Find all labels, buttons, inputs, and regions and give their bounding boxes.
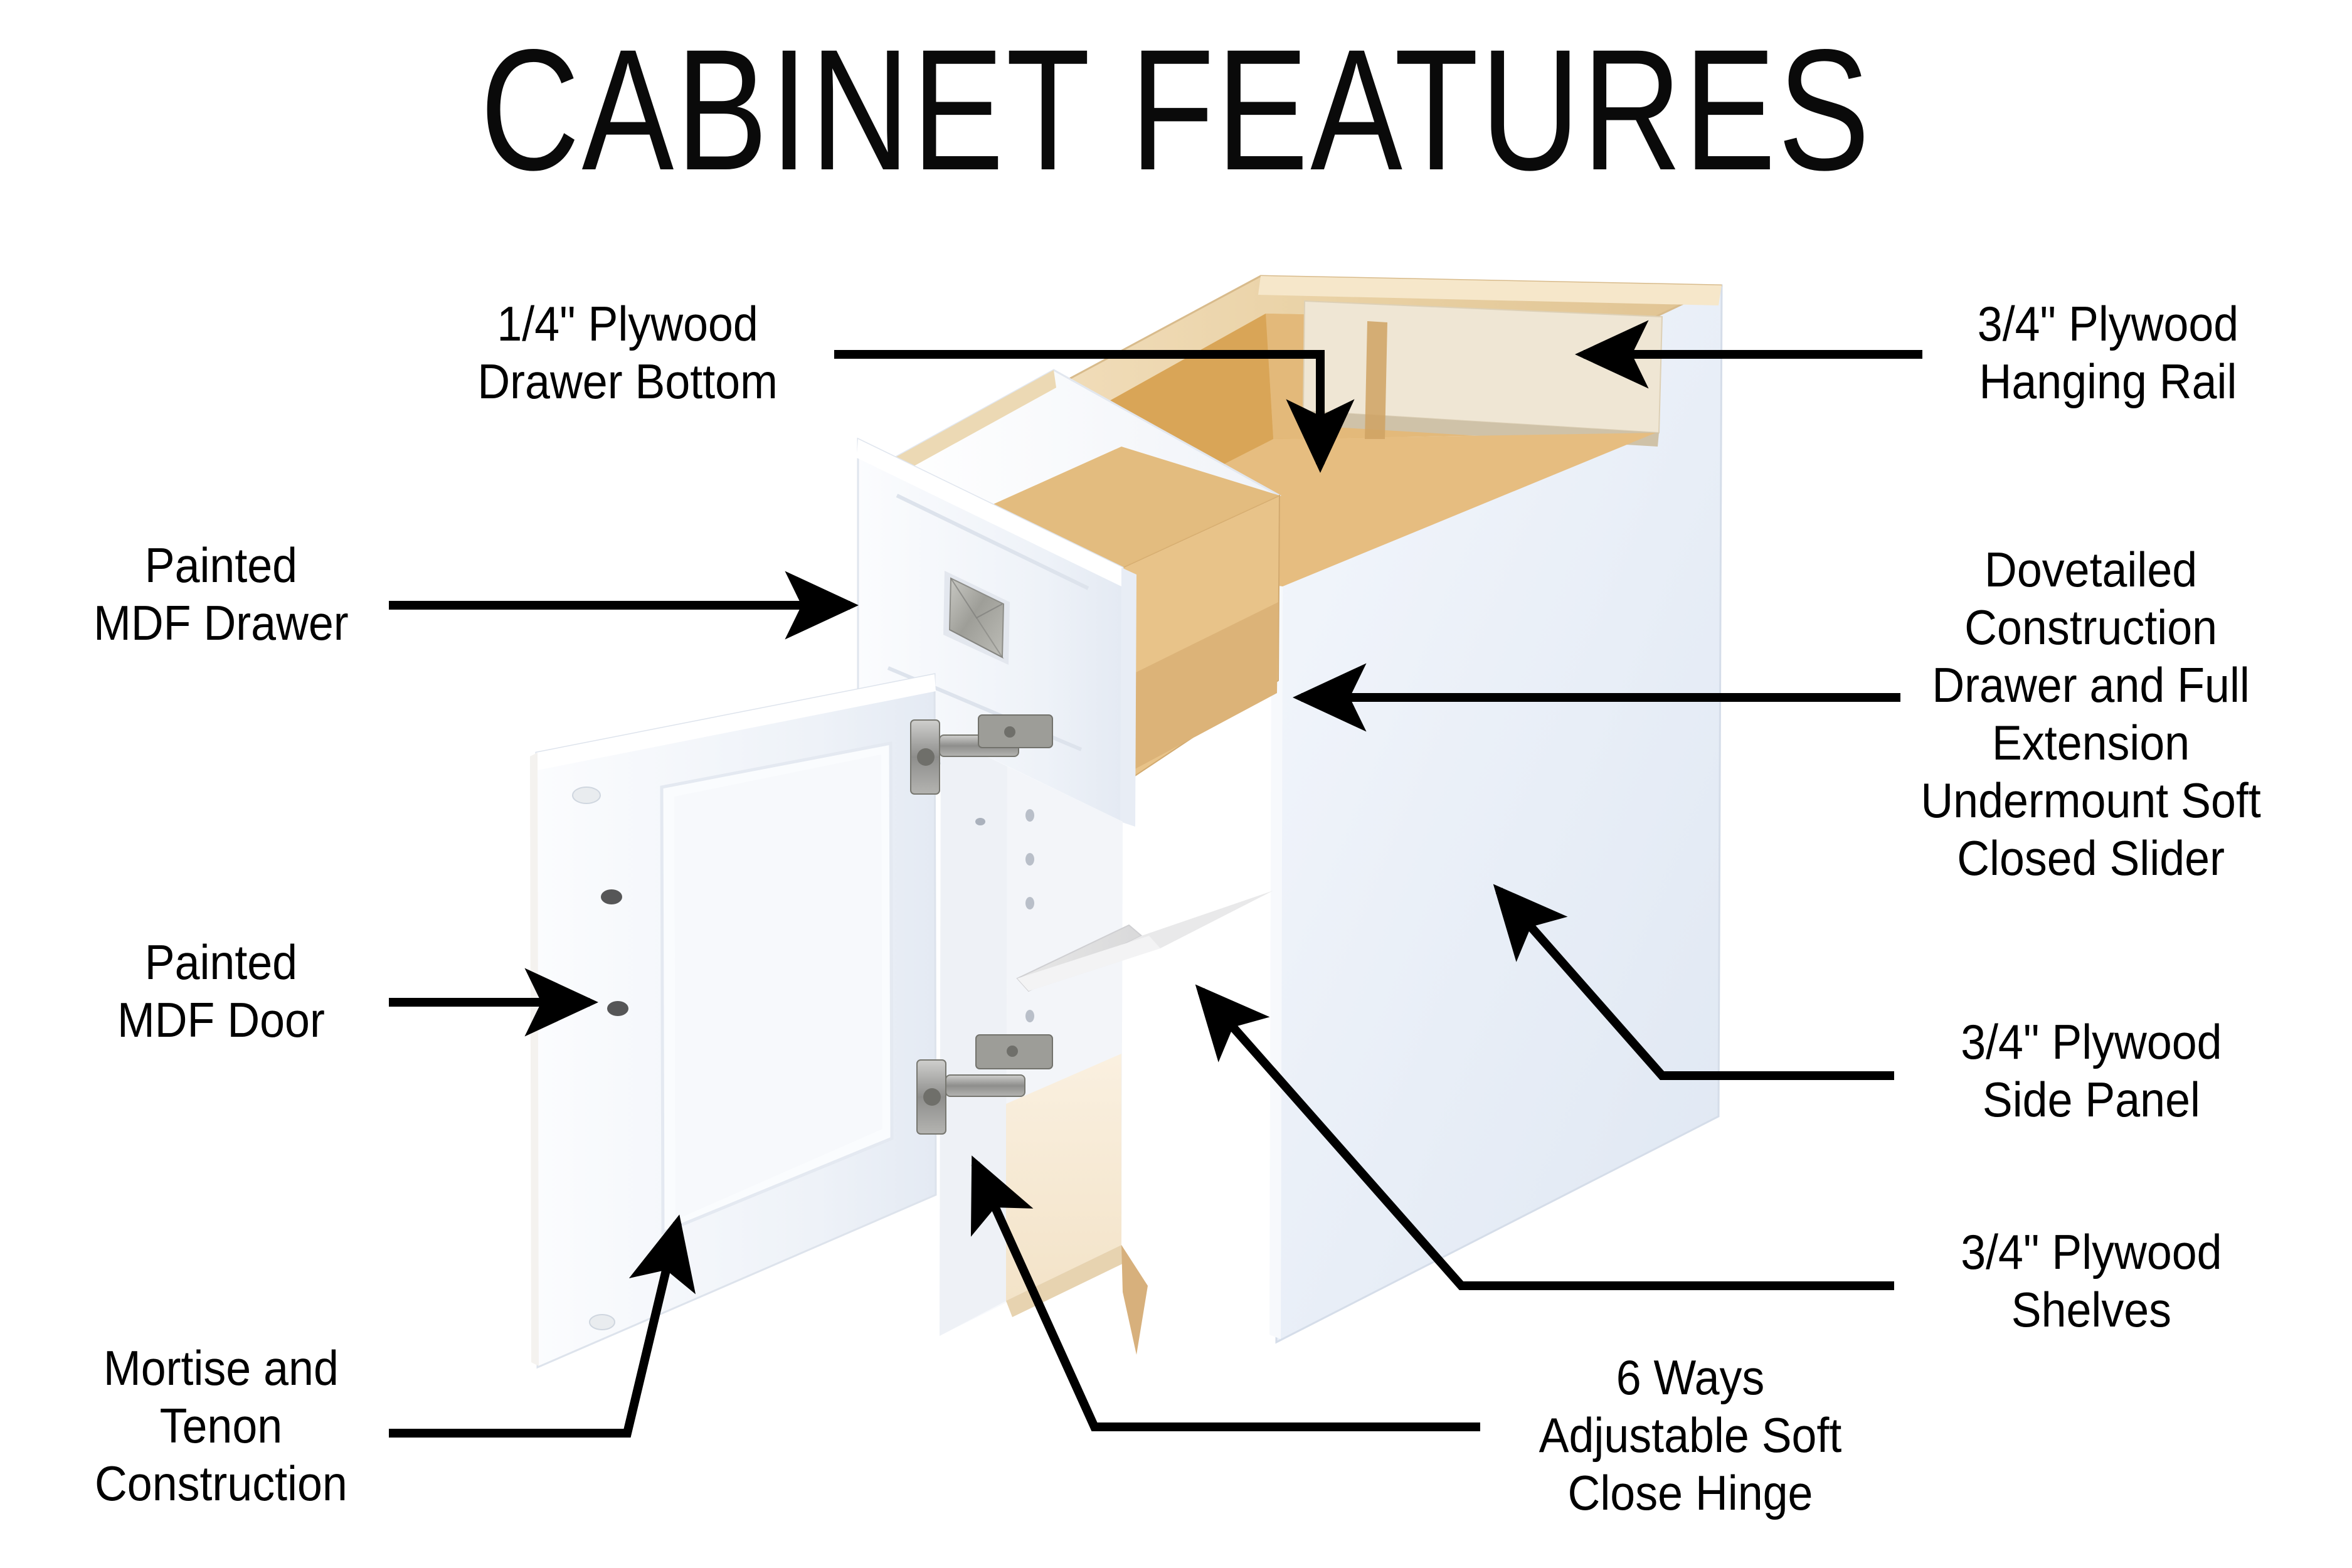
- callout-3-4in-plywood-hanging-rail: 3/4" Plywood Hanging Rail: [1935, 295, 2281, 410]
- door-left-edge: [530, 753, 539, 1366]
- door-bumper-pad-top: [573, 787, 600, 803]
- door-bumper-pad-bottom: [590, 1315, 615, 1330]
- drawer-front-right-edge: [1120, 568, 1136, 827]
- callout-dovetailed-construction-slider: Dovetailed Construction Drawer and Full …: [1900, 541, 2281, 887]
- callout-3-4in-plywood-side-panel: 3/4" Plywood Side Panel: [1907, 1013, 2276, 1128]
- callout-mortise-and-tenon-construction: Mortise and Tenon Construction: [60, 1339, 383, 1512]
- callout-painted-mdf-drawer: Painted MDF Drawer: [60, 536, 383, 652]
- hanging-rail: [1303, 301, 1662, 433]
- cabinet-carcass: [530, 276, 1722, 1367]
- callout-1-4in-plywood-drawer-bottom: 1/4" Plywood Drawer Bottom: [443, 295, 812, 410]
- callout-3-4in-plywood-shelves: 3/4" Plywood Shelves: [1907, 1223, 2276, 1338]
- bottom-ply-sliver: [1121, 1245, 1148, 1355]
- callout-painted-mdf-door: Painted MDF Door: [60, 933, 383, 1049]
- interior-divider: [1365, 321, 1387, 439]
- callout-6-ways-adjustable-soft-close-hinge: 6 Ways Adjustable Soft Close Hinge: [1506, 1348, 1875, 1522]
